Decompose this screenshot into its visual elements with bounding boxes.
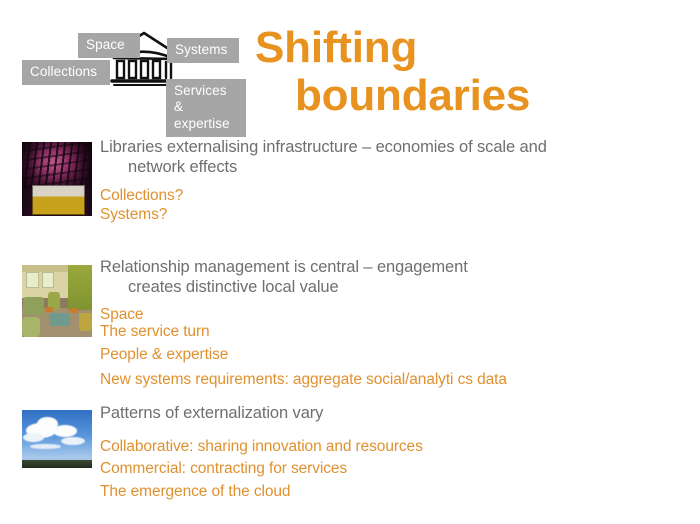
block-1-heading-line1: Libraries externalising infrastructure –… — [100, 138, 547, 156]
presentation-slide: Space Systems Collections Services & exp… — [0, 0, 700, 524]
block-1-heading-line2: network effects — [100, 158, 685, 178]
block-3-point-2: Commercial: contracting for services — [100, 460, 685, 477]
block-1-heading: Libraries externalising infrastructure –… — [100, 138, 685, 178]
header-diagram: Space Systems Collections Services & exp… — [0, 0, 260, 125]
block-2-point-2: The service turn — [100, 323, 685, 340]
block-2-heading: Relationship management is central – eng… — [100, 258, 685, 298]
block-1-text: Libraries externalising infrastructure –… — [100, 138, 685, 224]
tag-collections[interactable]: Collections — [22, 60, 110, 85]
thumbnail-library-lounge — [22, 265, 92, 337]
content-block-3: Patterns of externalization vary Collabo… — [0, 404, 700, 524]
slide-title-line1: Shifting — [255, 23, 417, 72]
slide-title: Shifting boundaries — [255, 24, 685, 119]
block-1-point-1: Collections? — [100, 186, 685, 205]
content-block-2: Relationship management is central – eng… — [0, 258, 700, 403]
thumbnail-clouds — [22, 410, 92, 468]
block-2-point-3: People & expertise — [100, 345, 685, 364]
block-2-point-1: Space — [100, 306, 685, 323]
block-2-heading-line2: creates distinctive local value — [100, 278, 685, 298]
tag-space[interactable]: Space — [78, 33, 140, 58]
thumbnail-warehouse — [22, 142, 92, 216]
block-3-point-1: Collaborative: sharing innovation and re… — [100, 438, 685, 455]
block-2-point-4: New systems requirements: aggregate soci… — [100, 370, 685, 389]
block-2-heading-line1: Relationship management is central – eng… — [100, 258, 468, 276]
block-3-heading: Patterns of externalization vary — [100, 404, 685, 424]
block-2-text: Relationship management is central – eng… — [100, 258, 685, 389]
block-3-heading-line1: Patterns of externalization vary — [100, 404, 323, 422]
tag-services-expertise[interactable]: Services & expertise — [166, 79, 246, 137]
block-3-text: Patterns of externalization vary Collabo… — [100, 404, 685, 500]
content-block-1: Libraries externalising infrastructure –… — [0, 138, 700, 238]
block-3-point-3: The emergence of the cloud — [100, 483, 685, 500]
block-1-point-2: Systems? — [100, 205, 685, 224]
tag-systems[interactable]: Systems — [167, 38, 239, 63]
slide-title-line2: boundaries — [255, 72, 685, 120]
